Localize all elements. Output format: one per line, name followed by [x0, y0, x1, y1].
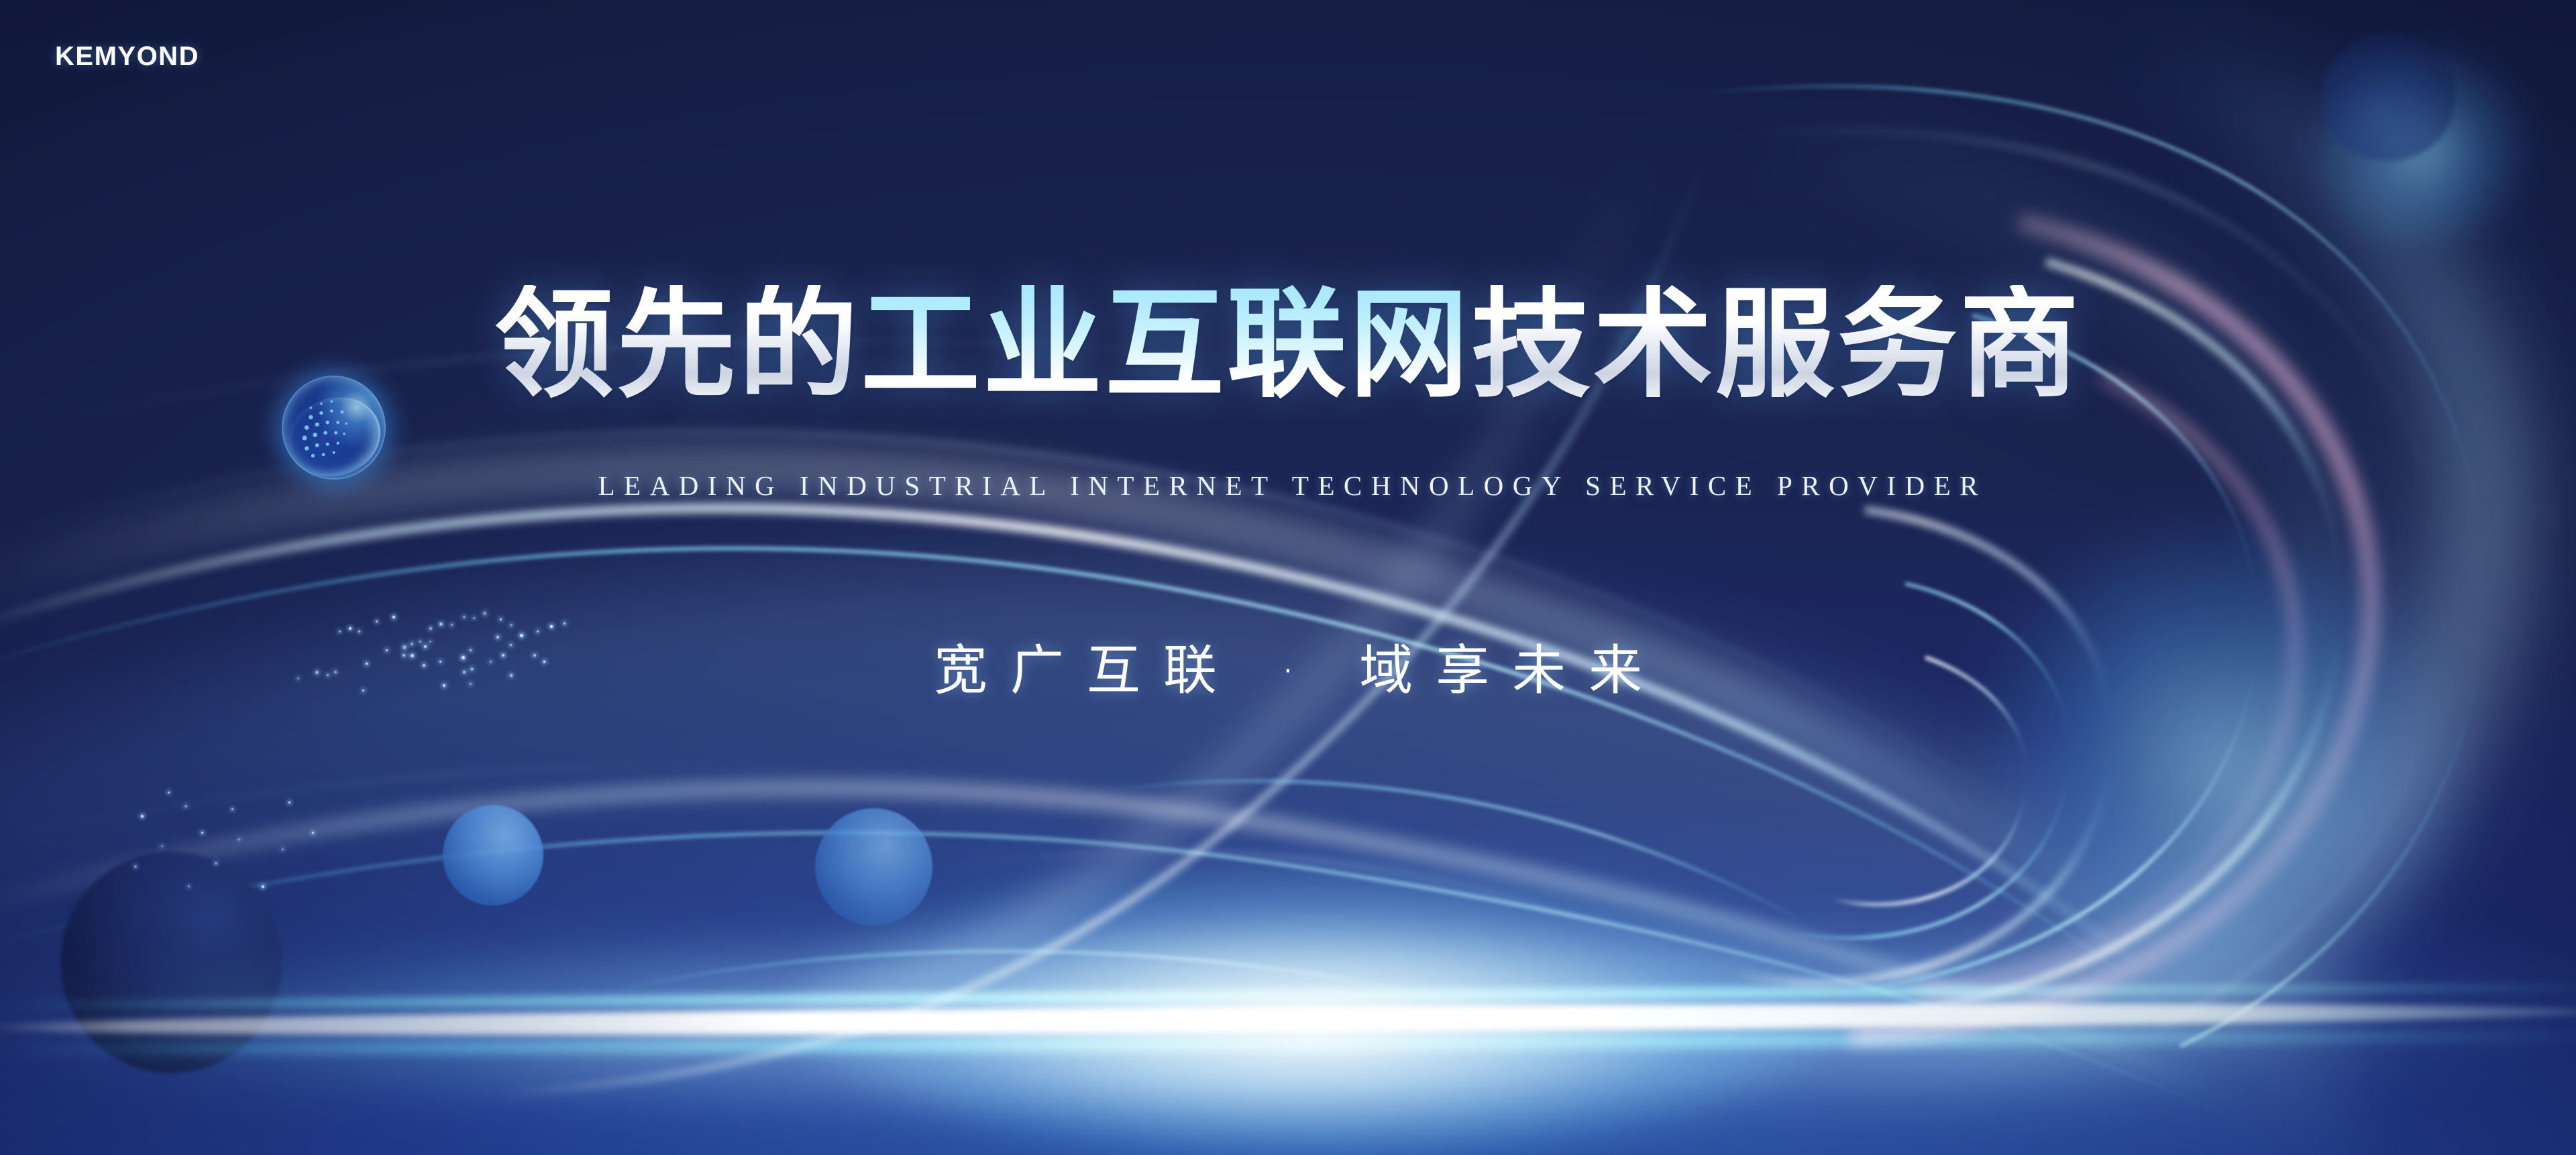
sphere-dark-left: [60, 852, 282, 1073]
headline-segment-3: 技术服务商: [1471, 285, 2082, 404]
light-beam-cyan-1: [0, 981, 2576, 1011]
tagline: 宽广互联 · 域享未来: [0, 627, 2576, 705]
promo-banner: KEMYOND 领先的工业互联网技术服务商 LEADING INDUSTRIAL…: [0, 0, 2576, 1155]
vignette-overlay: [0, 0, 2576, 1155]
light-beam-cyan-2: [0, 1029, 2576, 1058]
headline-segment-1: 领先的: [494, 285, 861, 404]
light-beam-core: [0, 998, 2576, 1041]
sphere-top-right: [2321, 34, 2455, 161]
light-beam-halo: [0, 946, 2576, 1101]
subtitle-english: LEADING INDUSTRIAL INTERNET TECHNOLOGY S…: [0, 470, 2576, 502]
glow-top-right: [2301, 47, 2542, 248]
background-artwork: [0, 0, 2576, 1155]
sphere-mid-left: [443, 805, 543, 905]
glow-right-core: [1966, 510, 2475, 1020]
headline-segment-2: 工业互联网: [861, 285, 1471, 404]
light-ribbon-strokes: [0, 0, 2576, 1155]
sphere-mid-center: [815, 808, 932, 926]
light-swirl-masses: [0, 0, 2576, 1155]
brand-logo[interactable]: KEMYOND: [55, 42, 199, 72]
glow-bottom-center: [792, 865, 1838, 1154]
page-title: 领先的工业互联网技术服务商: [0, 285, 2576, 404]
